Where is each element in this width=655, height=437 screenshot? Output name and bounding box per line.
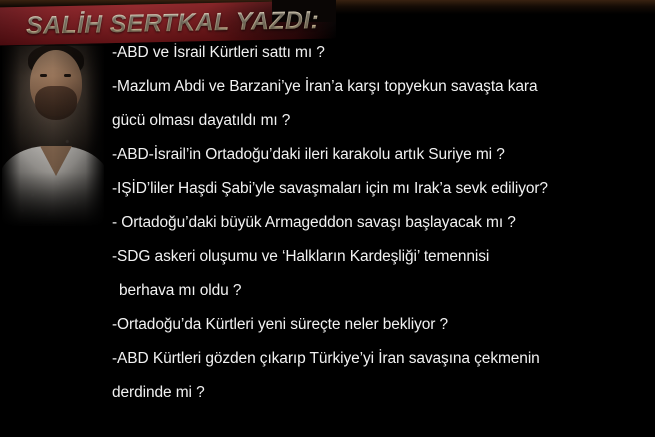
article-line: -Ortadoğu’da Kürtleri yeni süreçte neler… <box>112 308 648 342</box>
banner-title: SALİH SERTKAL YAZDI: <box>26 6 320 40</box>
article-line: -IŞİD’liler Haşdi Şabi’yle savaşmaları i… <box>112 172 648 206</box>
article-line: gücü olması dayatıldı mı ? <box>112 104 648 138</box>
article-line: -ABD-İsrail’in Ortadoğu’daki ileri karak… <box>112 138 648 172</box>
article-graphic: SALİH SERTKAL YAZDI: -ABD ve İsrail Kürt… <box>0 0 655 437</box>
author-portrait-photo <box>2 34 104 226</box>
article-line: berhava mı oldu ? <box>112 274 648 308</box>
article-line: - Ortadoğu’daki büyük Armageddon savaşı … <box>112 206 648 240</box>
article-question-list: -ABD ve İsrail Kürtleri sattı mı ? -Mazl… <box>112 36 648 410</box>
article-line: -SDG askeri oluşumu ve ‘Halkların Kardeş… <box>112 240 648 274</box>
article-line: derdinde mi ? <box>112 376 648 410</box>
article-line: -ABD Kürtleri gözden çıkarıp Türkiye’yi … <box>112 342 648 376</box>
article-line: -Mazlum Abdi ve Barzani’ye İran’a karşı … <box>112 70 648 104</box>
portrait-vignette-overlay <box>2 34 104 226</box>
